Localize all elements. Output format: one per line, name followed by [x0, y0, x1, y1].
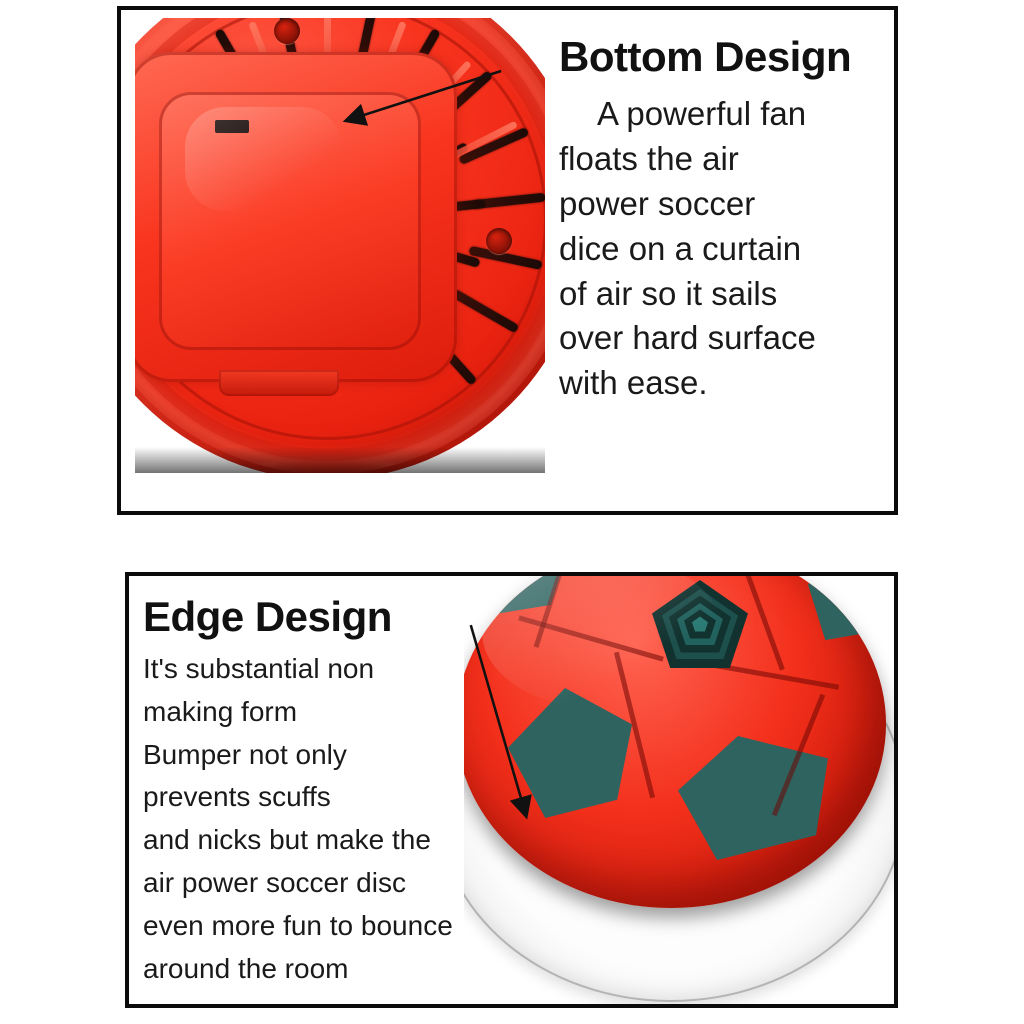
body-line: with ease.	[559, 361, 889, 406]
infographic-stage: Bottom Design A powerful fan floats the …	[0, 0, 1024, 1024]
gloss-highlight	[185, 107, 342, 210]
battery-door-latch	[219, 370, 339, 396]
panel-edge-design: Edge Design It's substantial non making …	[125, 572, 898, 1008]
body-line: floats the air	[559, 137, 889, 182]
battery-compartment-door	[135, 52, 457, 382]
vent-slot	[450, 289, 519, 334]
panel-body-bottom-design: A powerful fan floats the air power socc…	[559, 92, 889, 406]
panel-title-bottom-design: Bottom Design	[559, 36, 889, 78]
body-line: A powerful fan	[597, 95, 806, 132]
gloss-highlight	[482, 576, 723, 709]
bottom-design-text-block: Bottom Design A powerful fan floats the …	[559, 26, 889, 406]
disc-underside-body	[135, 18, 545, 473]
ball-patch-green	[808, 576, 886, 644]
photo-bottom-shadow	[135, 447, 545, 473]
body-line: over hard surface	[559, 316, 889, 361]
battery-door-tab	[215, 120, 249, 133]
battery-door-inset	[159, 92, 421, 350]
hover-disc-edge-photo	[464, 576, 894, 1004]
body-line: of air so it sails	[559, 272, 889, 317]
body-line: power soccer	[559, 182, 889, 227]
panel-bottom-design: Bottom Design A powerful fan floats the …	[117, 6, 898, 515]
screw-hole	[274, 18, 300, 44]
body-line: dice on a curtain	[559, 227, 889, 272]
ball-patch-green	[678, 736, 828, 860]
screw-hole	[486, 228, 512, 254]
hover-disc-underside-photo	[135, 18, 545, 473]
